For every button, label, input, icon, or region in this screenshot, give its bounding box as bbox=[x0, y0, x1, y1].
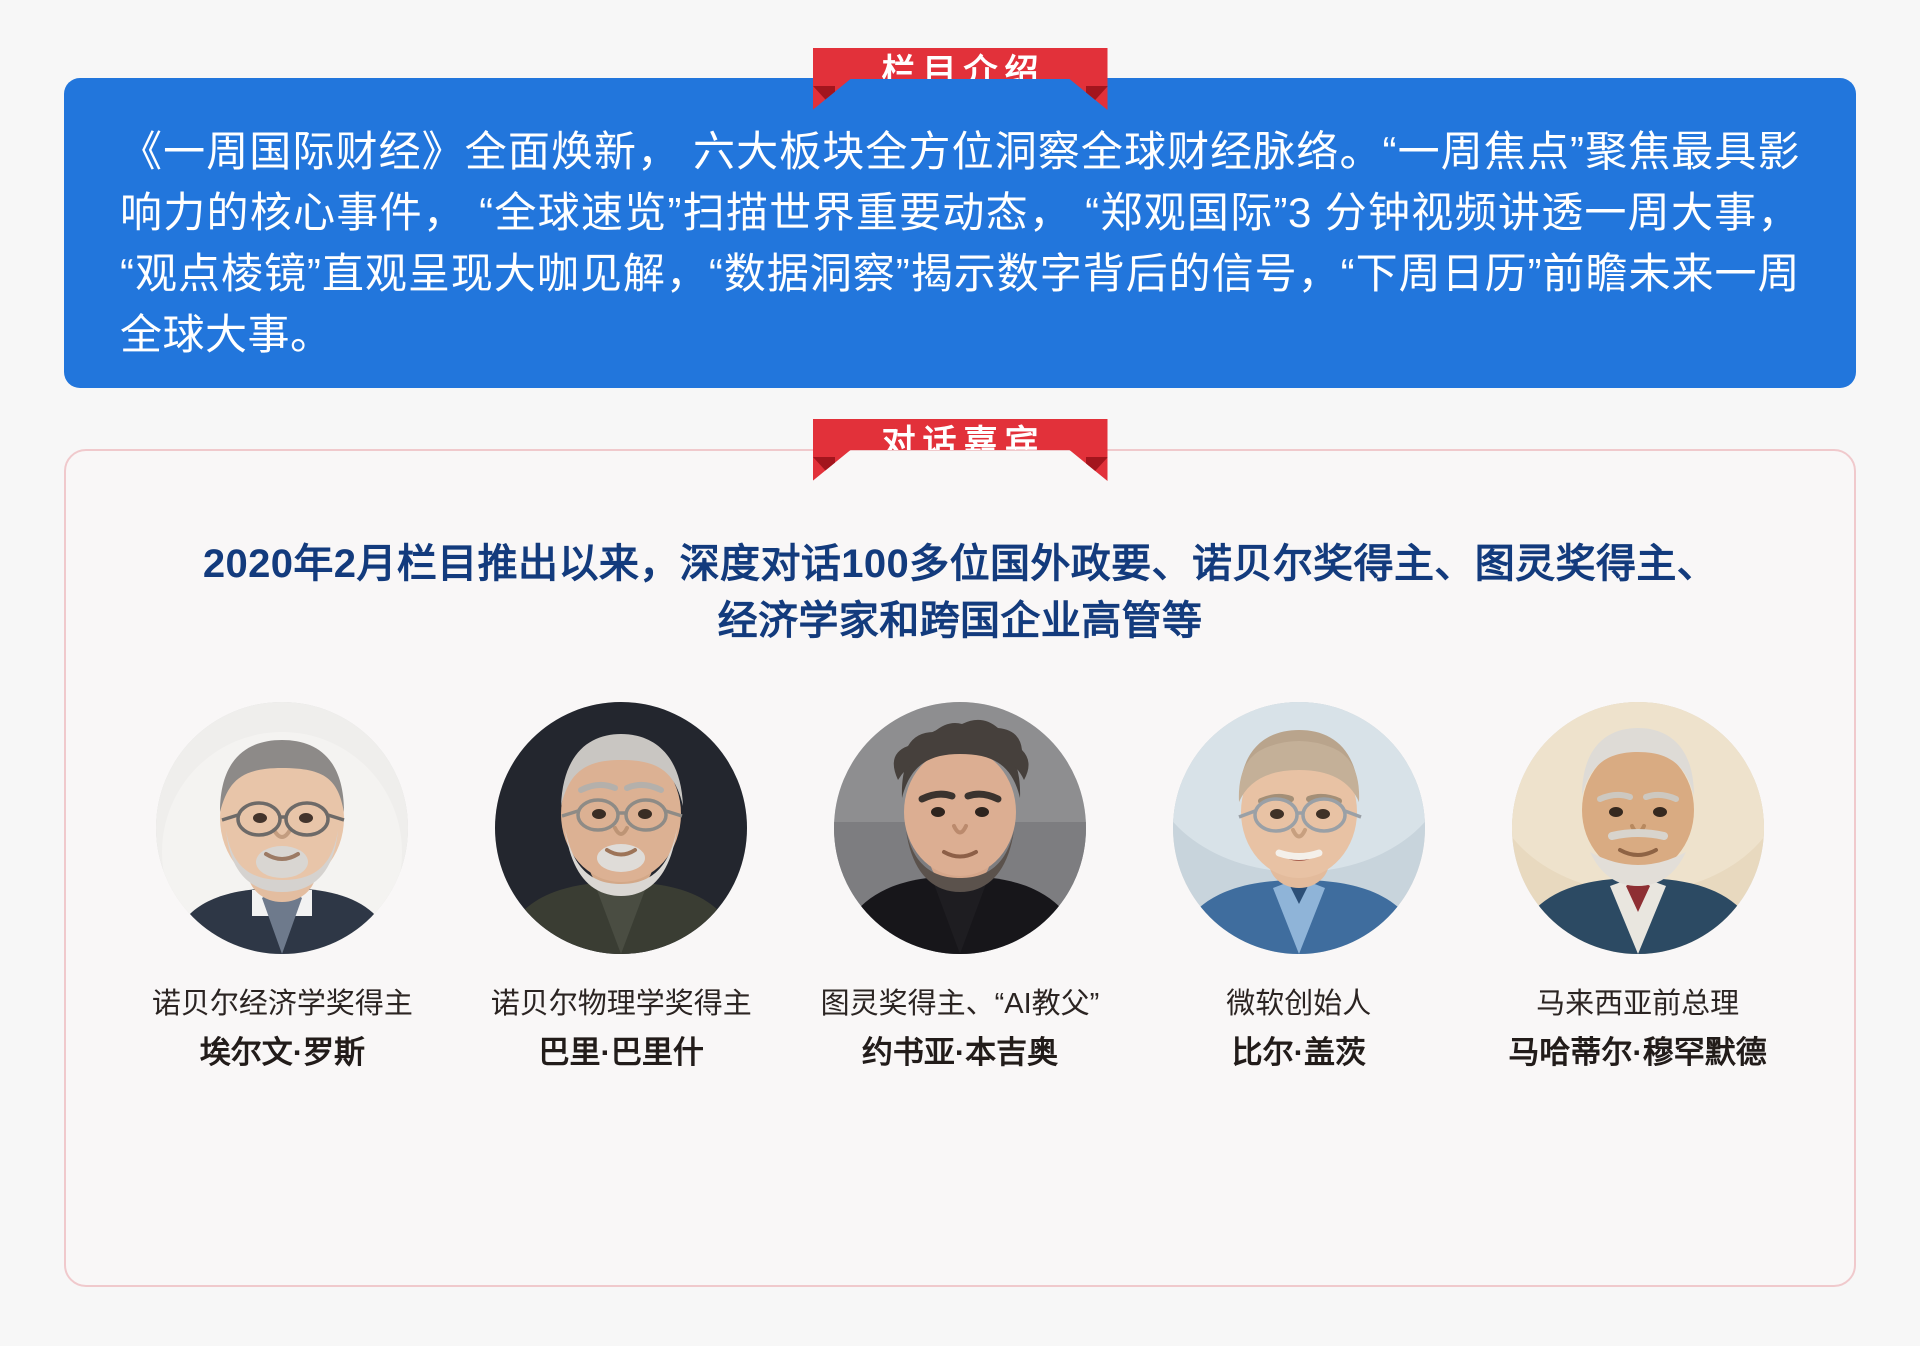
guest-role: 诺贝尔物理学奖得主 bbox=[491, 986, 752, 1022]
guest-card[interactable]: 马来西亚前总理 马哈蒂尔·穆罕默德 bbox=[1491, 702, 1784, 1071]
portrait-alvin-roth bbox=[156, 702, 408, 954]
guest-name: 约书亚·本吉奥 bbox=[862, 1034, 1058, 1071]
portrait-barry-barish bbox=[495, 702, 747, 954]
guest-card[interactable]: 微软创始人 比尔·盖茨 bbox=[1152, 702, 1445, 1071]
guest-name: 巴里·巴里什 bbox=[539, 1034, 704, 1071]
intro-body-text: 《一周国际财经》全面焕新， 六大板块全方位洞察全球财经脉络。“一周焦点”聚焦最具… bbox=[120, 122, 1800, 366]
guest-list: 诺贝尔经济学奖得主 埃尔文·罗斯 bbox=[66, 650, 1854, 1071]
guest-name: 埃尔文·罗斯 bbox=[200, 1034, 365, 1071]
guest-name: 马哈蒂尔·穆罕默德 bbox=[1508, 1034, 1766, 1071]
guest-role: 诺贝尔经济学奖得主 bbox=[152, 986, 413, 1022]
guest-card[interactable]: 诺贝尔经济学奖得主 埃尔文·罗斯 bbox=[136, 702, 429, 1071]
portrait-yoshua-bengio bbox=[834, 702, 1086, 954]
guest-card[interactable]: 诺贝尔物理学奖得主 巴里·巴里什 bbox=[475, 702, 768, 1071]
portrait-bill-gates bbox=[1173, 702, 1425, 954]
guest-role: 马来西亚前总理 bbox=[1536, 986, 1739, 1022]
intro-panel: 《一周国际财经》全面焕新， 六大板块全方位洞察全球财经脉络。“一周焦点”聚焦最具… bbox=[64, 78, 1856, 388]
guest-card[interactable]: 图灵奖得主、“AI教父” 约书亚·本吉奥 bbox=[814, 702, 1107, 1071]
guests-card: 2020年2月栏目推出以来，深度对话100多位国外政要、诺贝尔奖得主、图灵奖得主… bbox=[64, 449, 1856, 1287]
guest-role: 微软创始人 bbox=[1226, 986, 1371, 1022]
guest-role: 图灵奖得主、“AI教父” bbox=[821, 986, 1100, 1022]
portrait-mahathir-mohamad bbox=[1512, 702, 1764, 954]
poster-page: 《一周国际财经》全面焕新， 六大板块全方位洞察全球财经脉络。“一周焦点”聚焦最具… bbox=[0, 0, 1920, 1346]
guests-subtitle: 2020年2月栏目推出以来，深度对话100多位国外政要、诺贝尔奖得主、图灵奖得主… bbox=[66, 451, 1854, 650]
guest-name: 比尔·盖茨 bbox=[1232, 1034, 1366, 1071]
